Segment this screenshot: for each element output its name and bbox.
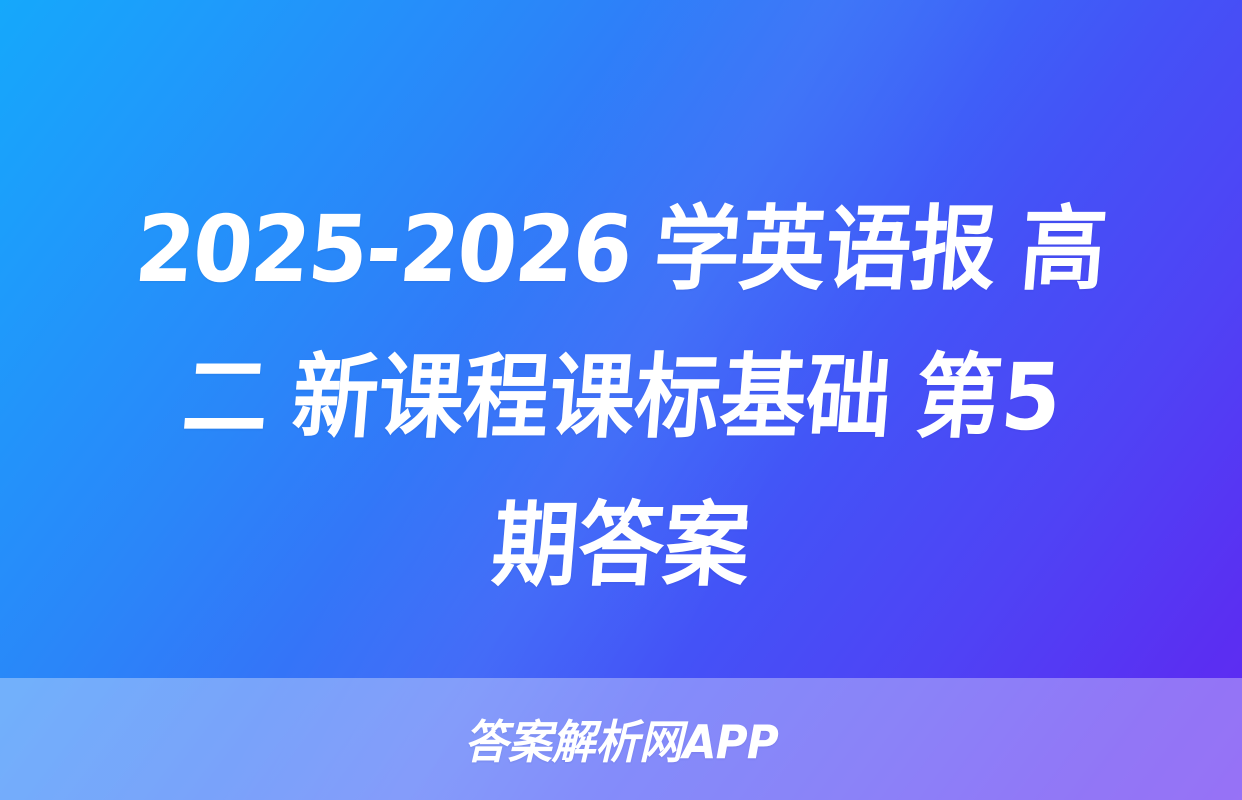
headline-line-3: 期答案 — [493, 472, 750, 620]
headline-grade-char-2: 二 — [177, 324, 275, 472]
headline-publication-name: 学英语报 — [649, 176, 1003, 324]
headline-issue-prefix: 第 — [910, 324, 1008, 472]
footer-brand-latin: APP — [683, 715, 778, 769]
headline-grade-char-1: 高 — [1015, 176, 1113, 324]
headline-line-1: 2025-2026学英语报高 — [135, 176, 1106, 324]
headline-issue-suffix: 期答案 — [487, 472, 756, 620]
poster-canvas: 2025-2026学英语报高 二新课程课标基础第5 期答案 答案解析网APP — [0, 0, 1242, 800]
headline-edition-name: 新课程课标基础 — [287, 324, 898, 472]
headline-year-range: 2025-2026 — [129, 176, 636, 324]
footer-band: 答案解析网APP — [0, 678, 1242, 800]
footer-brand-cjk: 答案解析网 — [464, 716, 683, 768]
footer-brand: 答案解析网APP — [464, 706, 778, 772]
headline-block: 2025-2026学英语报高 二新课程课标基础第5 期答案 — [0, 176, 1242, 636]
headline-line-2: 二新课程课标基础第5 — [183, 324, 1059, 472]
headline-issue-number: 5 — [995, 324, 1065, 472]
